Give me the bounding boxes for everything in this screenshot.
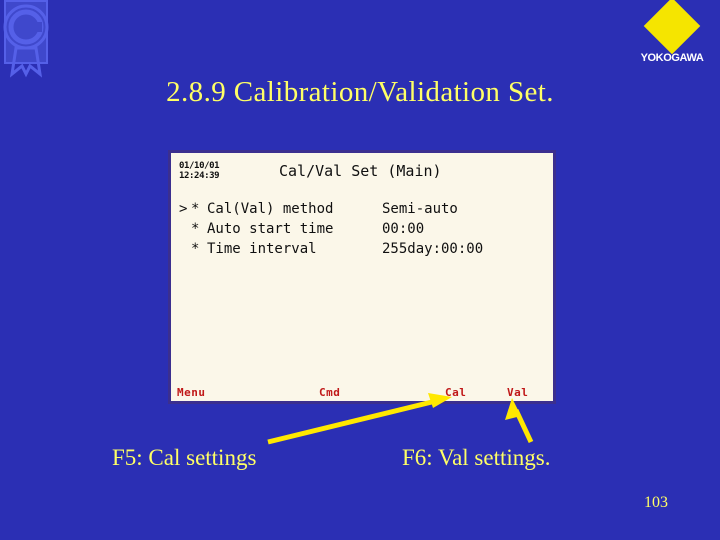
row-label: Time interval <box>207 241 382 257</box>
device-screenshot: 01/10/01 12:24:39 Cal/Val Set (Main) > *… <box>168 150 556 404</box>
arrow-pointing-to-val-key <box>505 398 531 442</box>
device-screen: 01/10/01 12:24:39 Cal/Val Set (Main) > *… <box>171 153 553 401</box>
row-value[interactable]: Semi-auto <box>382 201 458 217</box>
device-screen-header: 01/10/01 12:24:39 Cal/Val Set (Main) <box>179 161 545 191</box>
function-key-menu[interactable]: Menu <box>177 386 206 399</box>
device-settings-list: > * Cal(Val) method Semi-auto * Auto sta… <box>179 201 545 261</box>
list-item[interactable]: * Auto start time 00:00 <box>179 221 545 241</box>
list-item[interactable]: * Time interval 255day:00:00 <box>179 241 545 261</box>
device-date: 01/10/01 <box>179 161 219 171</box>
yokogawa-logo: YOKOGAWA <box>626 2 718 72</box>
function-key-cal[interactable]: Cal <box>445 386 466 399</box>
slide: YOKOGAWA 2.8.9 Calibration/Validation Se… <box>0 0 720 540</box>
row-cursor-indicator: > <box>179 201 191 217</box>
yokogawa-diamond-icon <box>644 0 701 54</box>
row-asterisk-mark: * <box>191 201 207 217</box>
row-value[interactable]: 255day:00:00 <box>382 241 483 257</box>
function-key-val[interactable]: Val <box>507 386 528 399</box>
page-title: 2.8.9 Calibration/Validation Set. <box>0 76 720 109</box>
caption-val-settings: F6: Val settings. <box>402 445 550 471</box>
row-asterisk-mark: * <box>191 221 207 237</box>
page-number: 103 <box>644 494 668 512</box>
list-item[interactable]: > * Cal(Val) method Semi-auto <box>179 201 545 221</box>
function-key-cmd[interactable]: Cmd <box>319 386 340 399</box>
row-asterisk-mark: * <box>191 241 207 257</box>
device-datetime: 01/10/01 12:24:39 <box>179 161 219 181</box>
row-label: Auto start time <box>207 221 382 237</box>
row-label: Cal(Val) method <box>207 201 382 217</box>
caption-cal-settings: F5: Cal settings <box>112 445 256 471</box>
device-time: 12:24:39 <box>179 171 219 181</box>
device-screen-title: Cal/Val Set (Main) <box>279 162 442 180</box>
device-function-key-bar: Menu Cmd Cal Val <box>171 383 553 399</box>
certification-seal-icon <box>2 0 54 78</box>
row-cursor-indicator <box>179 241 191 257</box>
row-cursor-indicator <box>179 221 191 237</box>
row-value[interactable]: 00:00 <box>382 221 424 237</box>
